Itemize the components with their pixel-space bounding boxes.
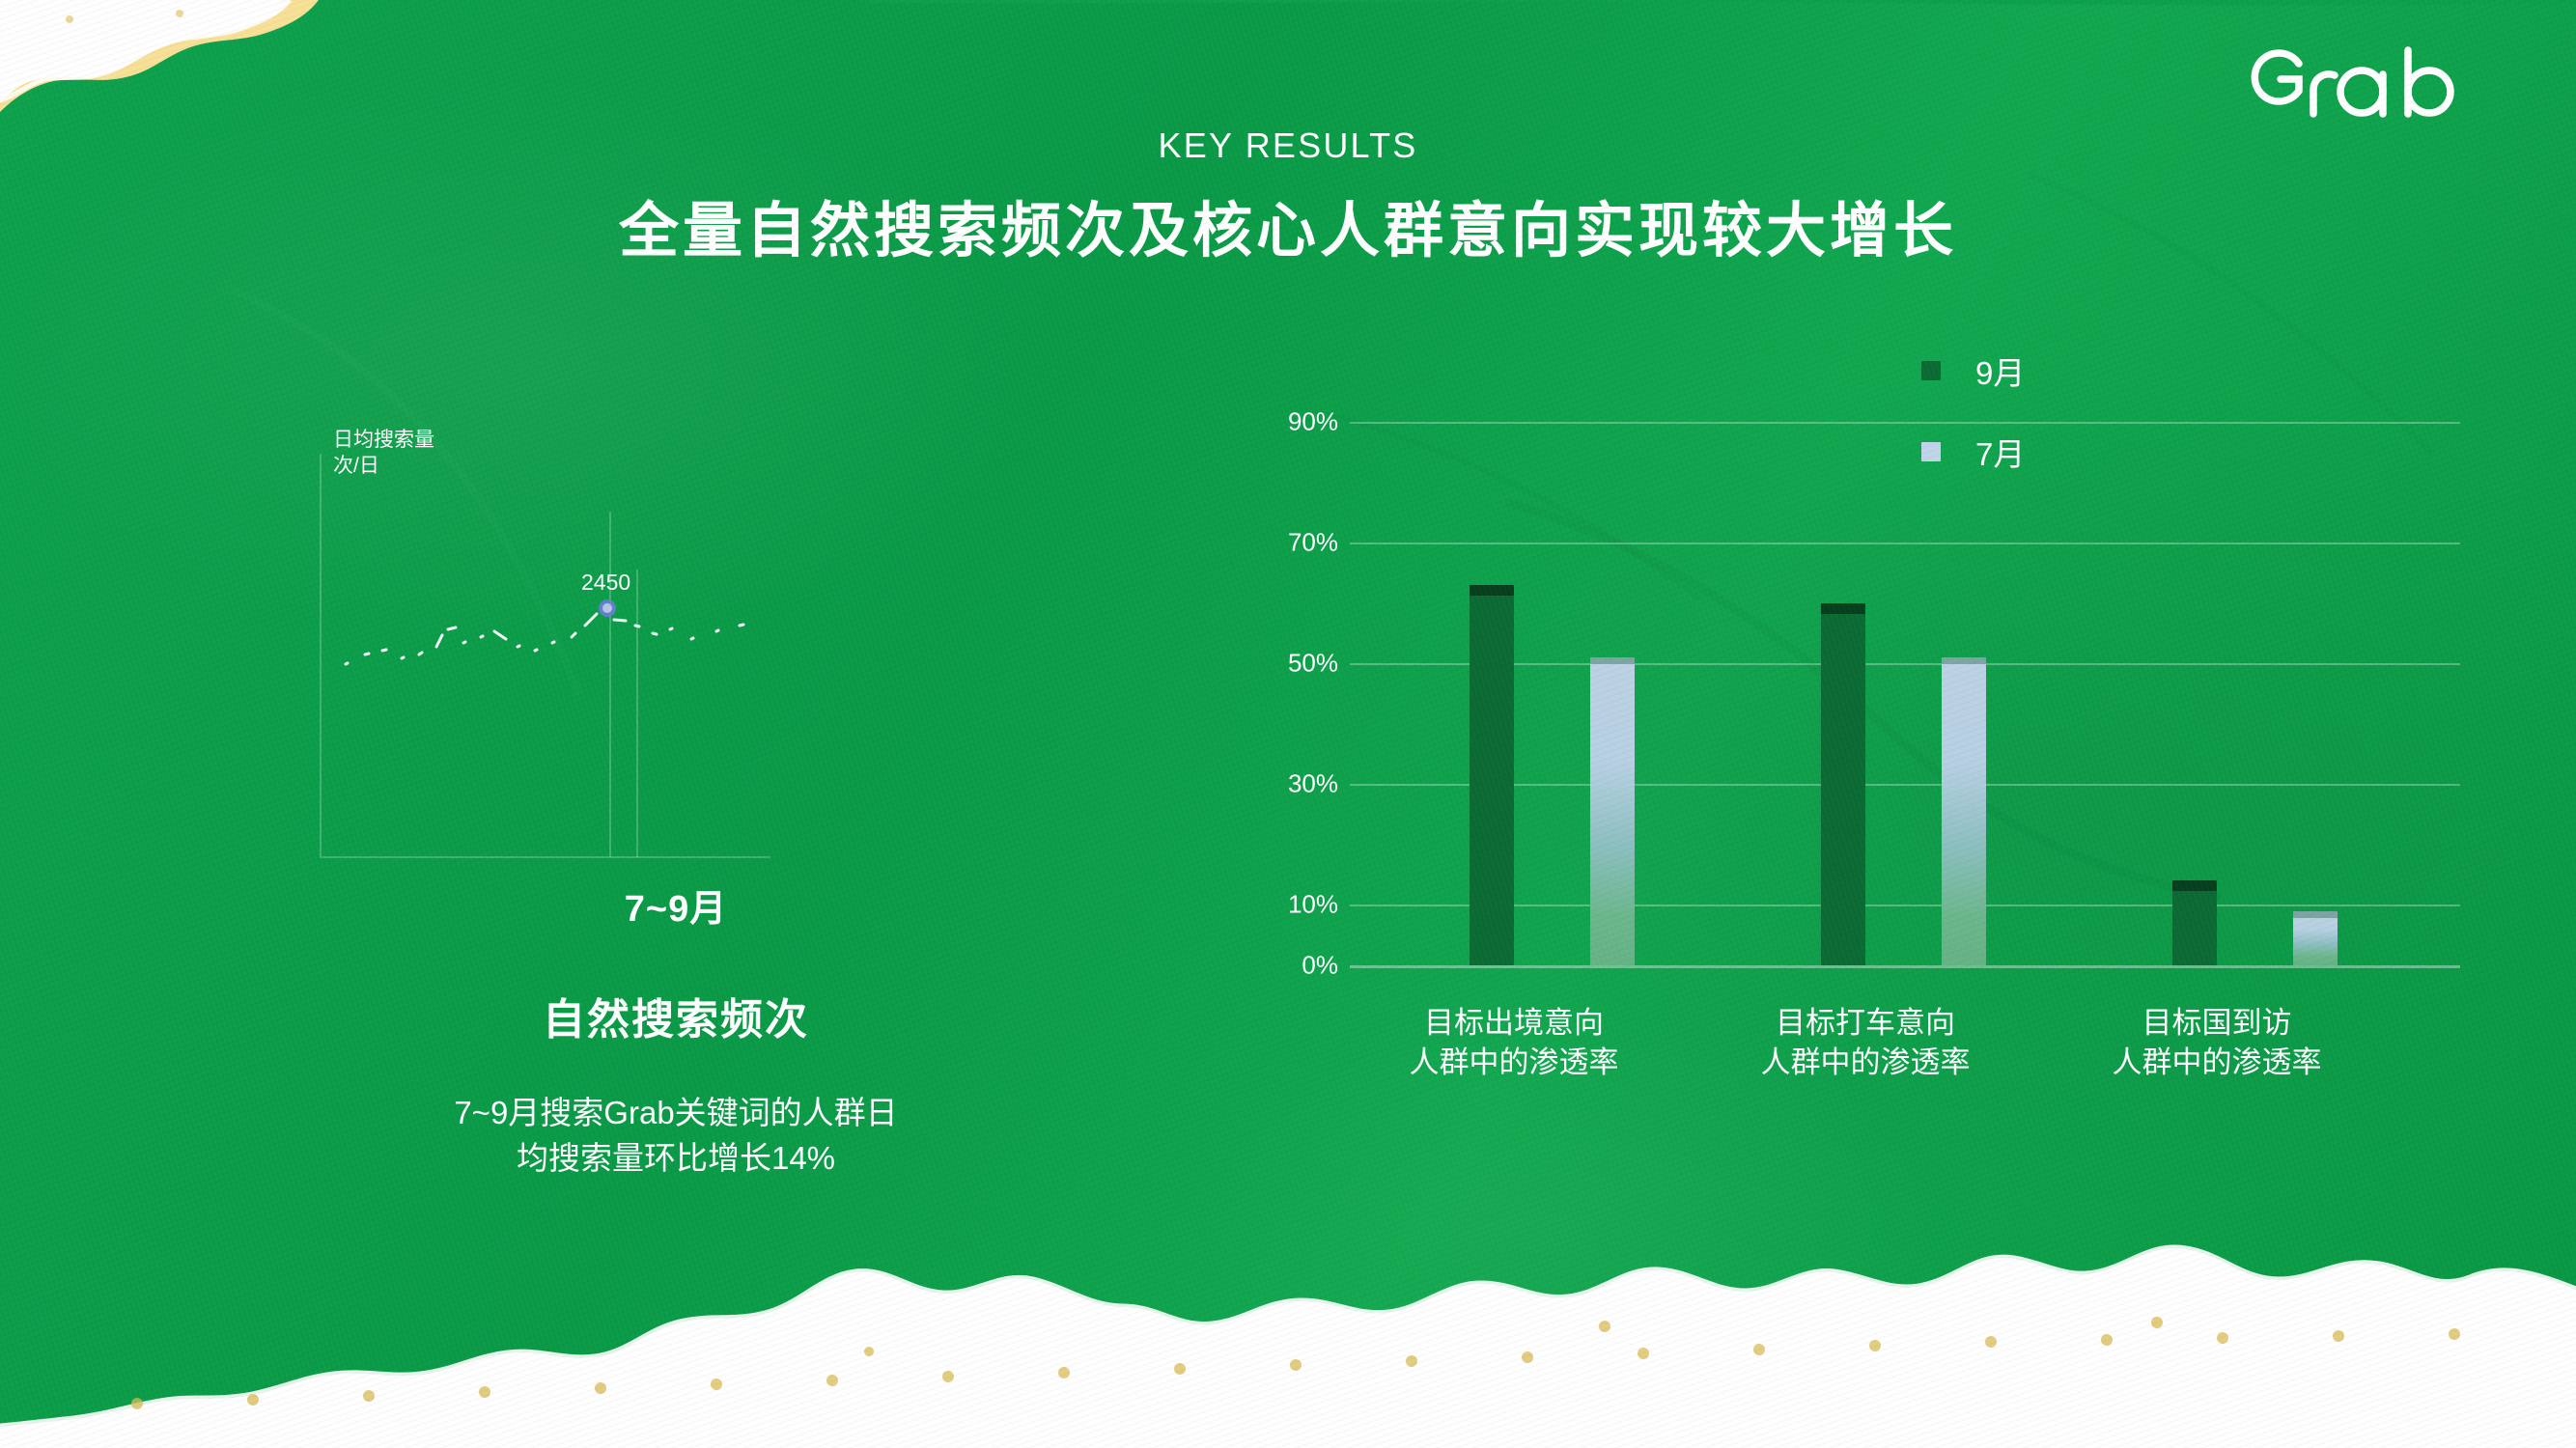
ytick-label: 90% <box>1273 407 1338 437</box>
bar-chart-plot-area: 90% 70% 50% 30% 10% 0% <box>1273 386 2460 1023</box>
torn-paper-edge-top <box>0 0 2576 145</box>
eyebrow-label: KEY RESULTS <box>0 125 2576 166</box>
torn-paper-edge-bottom <box>0 1197 2576 1448</box>
ytick-label: 70% <box>1273 528 1338 558</box>
legend-swatch-icon <box>1921 361 1941 380</box>
page-title: 全量自然搜索频次及核心人群意向实现较大增长 <box>0 181 2576 268</box>
bar-jul-group2 <box>1942 657 1986 965</box>
category-label-2: 目标打车意向 人群中的渗透率 <box>1701 1004 2030 1083</box>
ytick-label: 0% <box>1273 951 1338 981</box>
penetration-bar-chart: 9月 7月 90% 70% 50% 30% 10% 0% <box>1273 328 2460 1139</box>
ytick-label: 10% <box>1273 890 1338 920</box>
sparkline-peak-value: 2450 <box>581 570 630 596</box>
bar-sep-group1 <box>1470 585 1514 965</box>
bar-sep-group2 <box>1821 603 1865 965</box>
category-label-3: 目标国到访 人群中的渗透率 <box>2053 1004 2381 1083</box>
slide-canvas: KEY RESULTS 全量自然搜索频次及核心人群意向实现较大增长 日均搜索量 … <box>0 0 2576 1448</box>
metric-description: 7~9月搜索Grab关键词的人群日 均搜索量环比增长14% <box>241 1091 1110 1182</box>
date-range-label: 7~9月 <box>241 878 1110 932</box>
grab-logo <box>2238 31 2470 123</box>
gridline-baseline <box>1350 965 2460 968</box>
category-label-1: 目标出境意向 人群中的渗透率 <box>1350 1004 1678 1083</box>
sparkline-chart <box>319 454 772 859</box>
left-metric-panel: 日均搜索量 次/日 <box>241 405 1110 1043</box>
metric-title: 自然搜索频次 <box>241 985 1110 1046</box>
bar-jul-group3 <box>2293 911 2338 965</box>
bar-sep-group3 <box>2172 880 2217 965</box>
ytick-label: 30% <box>1273 769 1338 799</box>
ytick-label: 50% <box>1273 649 1338 679</box>
bar-jul-group1 <box>1590 657 1635 965</box>
